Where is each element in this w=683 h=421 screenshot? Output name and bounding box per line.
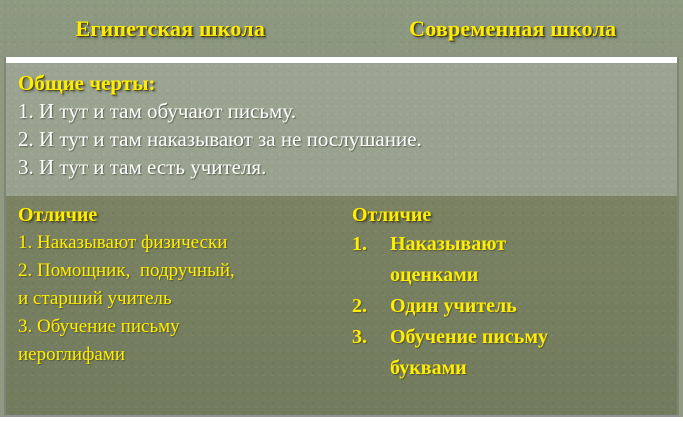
differences-right-item-3: 3. Обучение письму: [352, 322, 677, 353]
list-number: 2.: [352, 291, 390, 322]
common-traits-title: Общие черты:: [18, 69, 677, 97]
differences-right-item-1-cont: оценками: [352, 260, 677, 291]
header-band: Египетская школа Современная школа: [0, 0, 683, 57]
comparison-slide: Египетская школа Современная школа Общие…: [0, 0, 683, 421]
differences-left-line-2: 2. Помощник, подручный,: [18, 257, 344, 285]
differences-column-egyptian: Отличие 1. Наказывают физически 2. Помощ…: [6, 196, 344, 415]
differences-left-line-4: 3. Обучение письму: [18, 313, 344, 341]
slide-frame-right-border: [677, 0, 679, 421]
header-title-egyptian-school: Египетская школа: [8, 16, 347, 42]
common-traits-line-3: 3. И тут и там есть учителя.: [18, 153, 677, 181]
differences-column-modern: Отличие 1. Наказывают оценками 2. Один у…: [344, 196, 677, 415]
list-text: буквами: [390, 353, 467, 384]
list-number: [352, 353, 390, 384]
list-text: оценками: [390, 260, 478, 291]
common-traits-band: Общие черты: 1. И тут и там обучают пись…: [6, 63, 677, 196]
differences-left-title: Отличие: [18, 202, 344, 229]
differences-left-line-1: 1. Наказывают физически: [18, 229, 344, 257]
list-number: 1.: [352, 229, 390, 260]
header-row: Египетская школа Современная школа: [8, 0, 675, 57]
list-text: Наказывают: [390, 229, 506, 260]
common-traits-line-1: 1. И тут и там обучают письму.: [18, 97, 677, 125]
header-title-modern-school: Современная школа: [347, 16, 676, 42]
list-text: Один учитель: [390, 291, 517, 322]
differences-band: Отличие 1. Наказывают физически 2. Помощ…: [6, 196, 677, 415]
list-text: Обучение письму: [390, 322, 548, 353]
differences-right-item-1: 1. Наказывают: [352, 229, 677, 260]
slide-bottom-white-edge: [0, 417, 683, 421]
list-number: 3.: [352, 322, 390, 353]
list-number: [352, 260, 390, 291]
differences-left-line-5: иероглифами: [18, 341, 344, 369]
differences-left-line-3: и старший учитель: [18, 285, 344, 313]
differences-right-title: Отличие: [352, 202, 677, 229]
common-traits-line-2: 2. И тут и там наказывают за не послушан…: [18, 125, 677, 153]
differences-right-item-2: 2. Один учитель: [352, 291, 677, 322]
differences-right-item-3-cont: буквами: [352, 353, 677, 384]
